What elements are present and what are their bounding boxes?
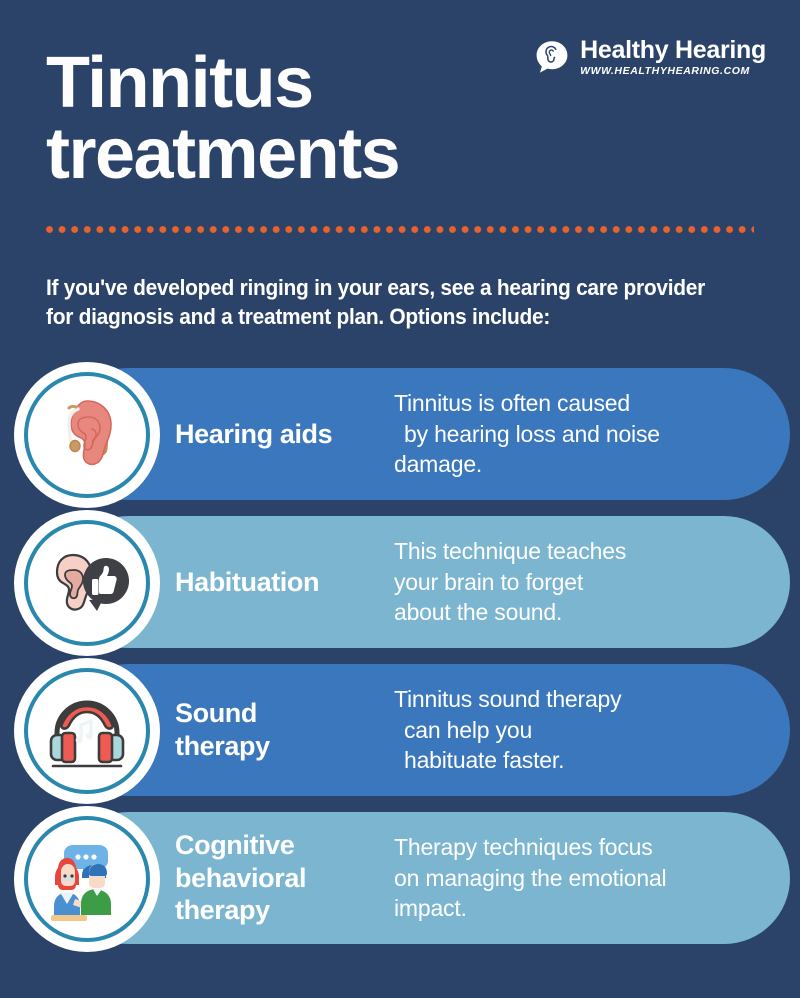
list-item[interactable]: Sound therapy Tinnitus sound therapy can… bbox=[0, 658, 800, 803]
infographic-header: Healthy Hearing WWW.HEALTHYHEARING.COM T… bbox=[0, 0, 800, 210]
ear-thumbs-up-bubble-icon bbox=[24, 520, 150, 646]
treatment-title: Cognitive behavioral therapy bbox=[175, 829, 380, 928]
icon-badge bbox=[14, 806, 160, 952]
treatment-description: This technique teaches your brain to for… bbox=[394, 536, 626, 628]
ear-speech-bubble-icon bbox=[534, 39, 570, 75]
brand-logo-block: Healthy Hearing WWW.HEALTHYHEARING.COM bbox=[534, 38, 766, 77]
treatment-title: Habituation bbox=[175, 566, 380, 599]
treatment-title: Hearing aids bbox=[175, 418, 380, 451]
treatments-list: Hearing aids Tinnitus is often caused by… bbox=[0, 362, 800, 954]
treatment-description: Tinnitus sound therapy can help you habi… bbox=[394, 684, 621, 776]
list-item[interactable]: Cognitive behavioral therapy Therapy tec… bbox=[0, 806, 800, 951]
treatment-title: Sound therapy bbox=[175, 697, 380, 763]
treatment-description: Therapy techniques focus on managing the… bbox=[394, 832, 666, 924]
brand-url: WWW.HEALTHYHEARING.COM bbox=[580, 66, 750, 77]
dotted-divider bbox=[46, 226, 754, 234]
list-item[interactable]: Habituation This technique teaches your … bbox=[0, 510, 800, 655]
therapy-conversation-icon bbox=[24, 816, 150, 942]
icon-badge bbox=[14, 362, 160, 508]
treatment-description: Tinnitus is often caused by hearing loss… bbox=[394, 388, 660, 480]
page-title: Tinnitus treatments bbox=[46, 48, 526, 189]
icon-badge bbox=[14, 658, 160, 804]
icon-badge bbox=[14, 510, 160, 656]
headphones-icon bbox=[24, 668, 150, 794]
ear-with-hearing-aid-icon bbox=[24, 372, 150, 498]
list-item[interactable]: Hearing aids Tinnitus is often caused by… bbox=[0, 362, 800, 507]
brand-name: Healthy Hearing bbox=[580, 38, 766, 63]
intro-paragraph: If you've developed ringing in your ears… bbox=[46, 273, 712, 333]
